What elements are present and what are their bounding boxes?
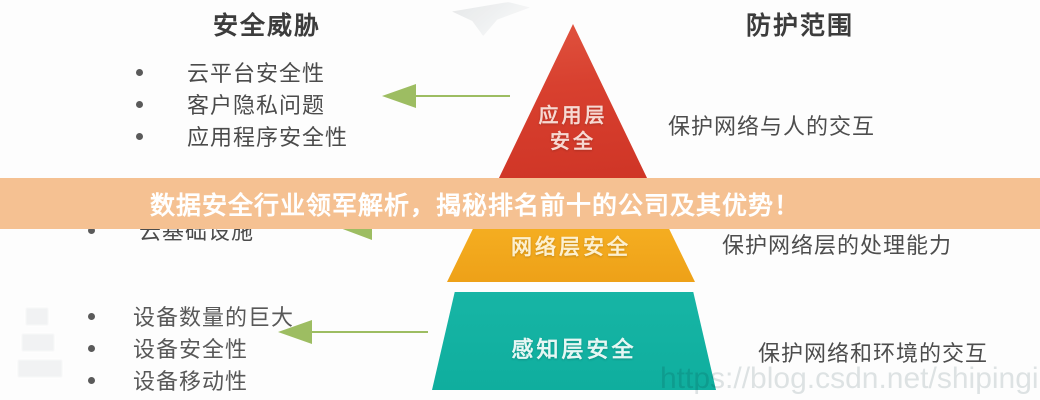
scope-description-network: 保护网络层的处理能力 — [722, 228, 952, 260]
arrow-left-icon-perception — [278, 318, 430, 346]
bullet-dot-icon — [88, 345, 95, 352]
pyramid-tier-network-security[interactable]: 网络层安全 — [447, 226, 695, 282]
promo-banner: 数据安全行业领军解析，揭秘排名前十的公司及其优势！ — [0, 178, 1040, 229]
list-item: 应用程序安全性 — [136, 120, 348, 152]
decorative-stairs-graphic — [18, 308, 74, 392]
list-item: 设备安全性 — [88, 332, 294, 364]
watermark-url: https://blog.csdn.net/shipinginfo — [660, 362, 1040, 396]
infographic-canvas: 安全威胁 防护范围 云平台安全性 客户隐私问题 应用程序安全性 网络传输 云基础… — [0, 0, 1040, 400]
pyramid-tier-label: 感知层安全 — [511, 336, 636, 364]
bullet-dot-icon — [136, 69, 143, 76]
threat-list-application: 云平台安全性 客户隐私问题 应用程序安全性 — [136, 56, 348, 152]
list-item: 云平台安全性 — [136, 56, 348, 88]
column-header-protection-scope: 防护范围 — [746, 6, 854, 42]
bullet-dot-icon — [136, 133, 143, 140]
column-header-security-threats: 安全威胁 — [213, 6, 321, 42]
pyramid-tier-label: 应用层 安全 — [539, 104, 608, 155]
pyramid-tier-application-security[interactable]: 应用层 安全 — [498, 24, 648, 180]
arrow-left-icon-application — [382, 82, 512, 110]
bullet-dot-icon — [136, 101, 143, 108]
list-item-label: 应用程序安全性 — [187, 120, 348, 152]
bullet-dot-icon — [88, 313, 95, 320]
list-item-label: 设备移动性 — [133, 364, 248, 396]
list-item-label: 客户隐私问题 — [187, 88, 325, 120]
list-item: 设备移动性 — [88, 364, 294, 396]
list-item: 客户隐私问题 — [136, 88, 348, 120]
pyramid-tier-label: 网络层安全 — [511, 234, 631, 261]
bullet-dot-icon — [88, 377, 95, 384]
list-item-label: 设备数量的巨大 — [133, 300, 294, 332]
list-item: 设备数量的巨大 — [88, 300, 294, 332]
decorative-shape-top — [452, 2, 530, 36]
scope-description-application: 保护网络与人的交互 — [668, 109, 875, 141]
pyramid-tier-label-line1: 应用层 — [539, 104, 608, 130]
promo-banner-title: 数据安全行业领军解析，揭秘排名前十的公司及其优势！ — [150, 186, 800, 222]
threat-list-perception: 设备数量的巨大 设备安全性 设备移动性 — [88, 300, 294, 396]
pyramid-tier-label-line2: 安全 — [539, 130, 608, 156]
list-item-label: 云平台安全性 — [187, 56, 325, 88]
list-item-label: 设备安全性 — [133, 332, 248, 364]
